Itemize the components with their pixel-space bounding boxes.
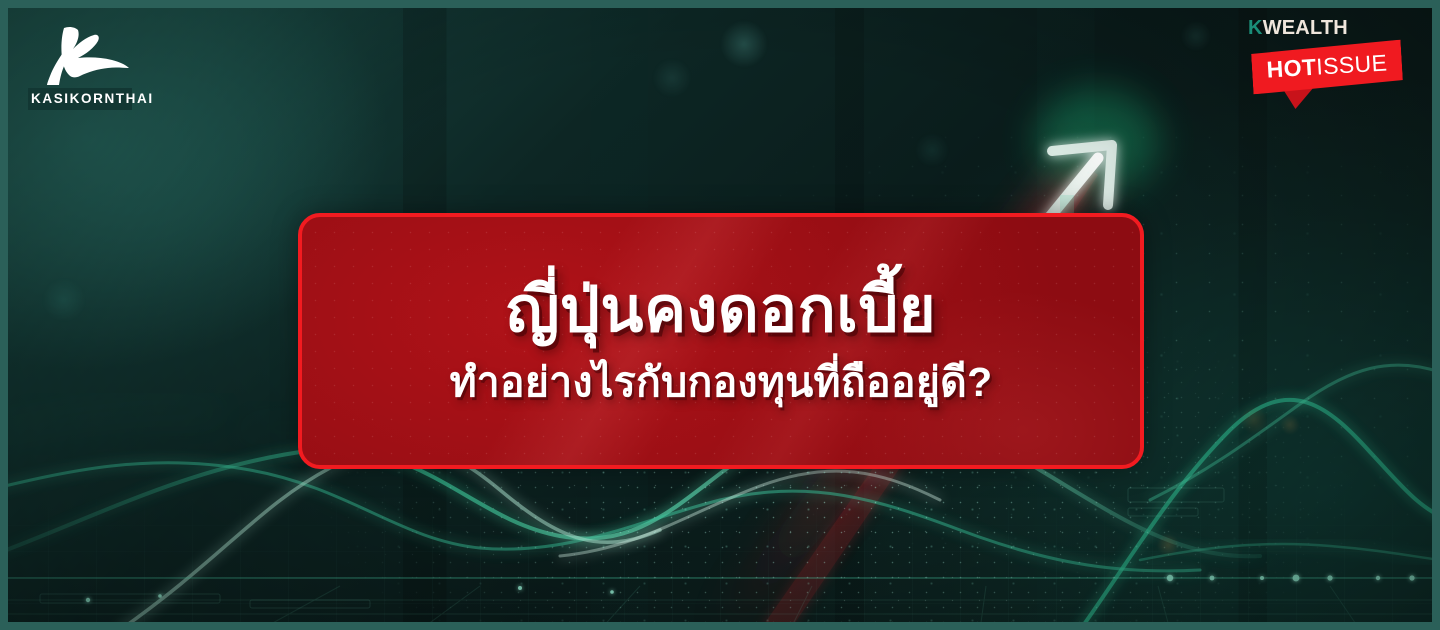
kasikornthai-wordmark: KASIKORNTHAI (28, 88, 132, 110)
kasikornthai-k-mark (28, 24, 132, 86)
k-wealth-rest-letters: WEALTH (1263, 17, 1348, 39)
hot-issue-secondary-text: ISSUE (1316, 49, 1388, 79)
k-wealth-k-letter: K (1248, 17, 1263, 39)
hot-issue-tag-shape: HOTISSUE (1251, 40, 1403, 95)
hot-issue-pointer-tail (1283, 88, 1314, 110)
hot-issue-primary-text: HOT (1266, 53, 1317, 82)
kwealth-hot-issue-banner: KASIKORNTHAI KWEALTH HOTISSUE ญี่ปุ่นคงด… (0, 0, 1440, 630)
k-wealth-logo[interactable]: KWEALTH (1208, 18, 1388, 38)
k-wealth-wordmark: KWEALTH (1208, 18, 1388, 38)
headline-title: ญี่ปุ่นคงดอกเบี้ย (506, 277, 936, 344)
headline-card: ญี่ปุ่นคงดอกเบี้ย ทำอย่างไรกับกองทุนที่ถ… (298, 213, 1144, 469)
headline-subtitle: ทำอย่างไรกับกองทุนที่ถืออยู่ดี? (450, 360, 993, 405)
hot-issue-label: HOTISSUE (1266, 51, 1388, 81)
hot-issue-badge[interactable]: HOTISSUE (1251, 40, 1403, 95)
kasikornthai-logo[interactable]: KASIKORNTHAI (28, 24, 132, 110)
